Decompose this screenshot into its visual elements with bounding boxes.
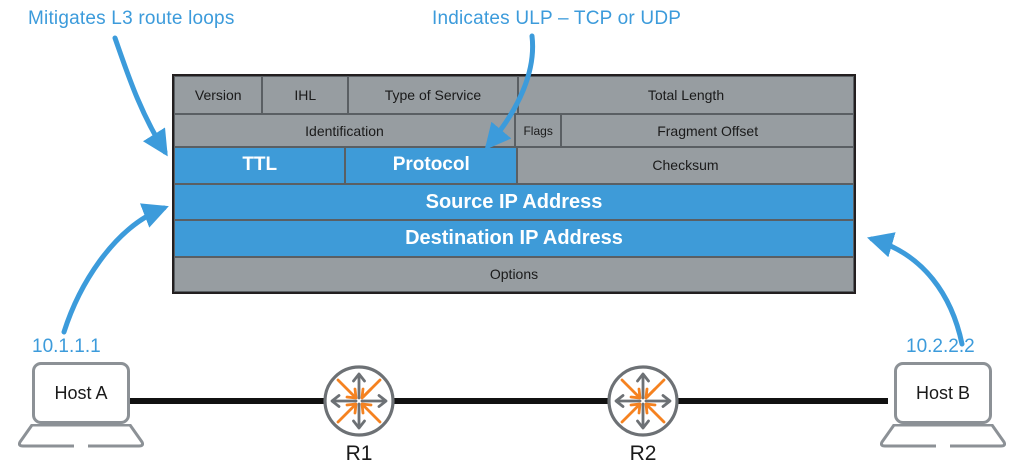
field-ttl: TTL: [174, 147, 345, 184]
field-type-of-service: Type of Service: [348, 76, 518, 114]
field-version: Version: [174, 76, 262, 114]
laptop-base-icon: [18, 424, 144, 448]
ipv4-header-table: Version IHL Type of Service Total Length…: [172, 74, 856, 294]
field-total-length: Total Length: [518, 76, 854, 114]
arrow-to-destination-ip: [872, 239, 962, 344]
router-r1-label: R1: [322, 442, 396, 466]
router-r2-label: R2: [606, 442, 680, 466]
field-options: Options: [174, 257, 854, 292]
arrow-to-source-ip: [64, 208, 164, 332]
annotation-protocol-text: Indicates ULP – TCP or UDP: [432, 8, 681, 30]
router-r1-icon: [322, 364, 396, 438]
field-checksum: Checksum: [517, 147, 854, 184]
header-row-2: Identification Flags Fragment Offset: [174, 114, 854, 146]
laptop-base-icon: [880, 424, 1006, 448]
header-row-3: TTL Protocol Checksum: [174, 147, 854, 184]
host-a-ip-label: 10.1.1.1: [32, 336, 101, 358]
host-b-ip-label: 10.2.2.2: [906, 336, 975, 358]
router-r2-icon: [606, 364, 680, 438]
field-fragment-offset: Fragment Offset: [561, 114, 854, 146]
field-ihl: IHL: [262, 76, 348, 114]
field-identification: Identification: [174, 114, 515, 146]
header-row-4: Source IP Address: [174, 184, 854, 220]
field-protocol: Protocol: [345, 147, 516, 184]
field-flags: Flags: [515, 114, 561, 146]
host-a-label: Host A: [32, 362, 130, 424]
ip-header-diagram: Mitigates L3 route loops Indicates ULP –…: [0, 0, 1024, 476]
link-r2-hostb: [676, 398, 888, 404]
host-b-laptop-icon: Host B: [880, 362, 1006, 448]
header-row-5: Destination IP Address: [174, 220, 854, 256]
header-row-6: Options: [174, 257, 854, 292]
link-r1-r2: [392, 398, 614, 404]
field-source-ip-address: Source IP Address: [174, 184, 854, 220]
host-b-label: Host B: [894, 362, 992, 424]
annotation-ttl-text: Mitigates L3 route loops: [28, 8, 235, 30]
header-row-1: Version IHL Type of Service Total Length: [174, 76, 854, 114]
field-destination-ip-address: Destination IP Address: [174, 220, 854, 256]
link-hosta-r1: [130, 398, 330, 404]
host-a-laptop-icon: Host A: [18, 362, 144, 448]
arrow-to-ttl: [115, 38, 165, 152]
